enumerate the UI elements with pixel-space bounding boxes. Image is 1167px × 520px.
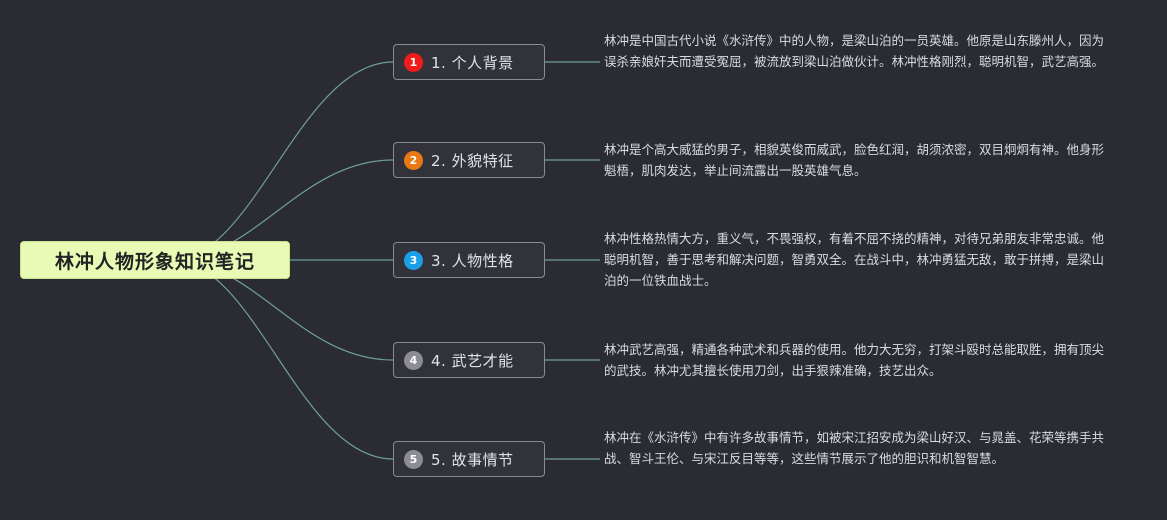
connector-root-branch-5 (172, 260, 393, 459)
branch-label-2: 2. 外貌特征 (431, 150, 514, 171)
branch-node-3[interactable]: 3 3. 人物性格 (393, 242, 545, 278)
branch-node-1[interactable]: 1 1. 个人背景 (393, 44, 545, 80)
branch-detail-4: 林冲武艺高强，精通各种武术和兵器的使用。他力大无穷，打架斗殴时总能取胜，拥有顶尖… (604, 339, 1104, 381)
branch-badge-number-4: 4 (410, 354, 418, 367)
root-node-label: 林冲人物形象知识笔记 (55, 247, 255, 274)
branch-detail-5: 林冲在《水浒传》中有许多故事情节，如被宋江招安成为梁山好汉、与晁盖、花荣等携手共… (604, 427, 1104, 469)
branch-badge-number-5: 5 (410, 453, 418, 466)
branch-label-3: 3. 人物性格 (431, 250, 514, 271)
root-node[interactable]: 林冲人物形象知识笔记 (20, 241, 290, 279)
branch-label-1: 1. 个人背景 (431, 52, 514, 73)
branch-node-5[interactable]: 5 5. 故事情节 (393, 441, 545, 477)
branch-badge-number-3: 3 (410, 254, 418, 267)
connector-root-branch-1 (172, 62, 393, 260)
branch-label-5: 5. 故事情节 (431, 449, 514, 470)
branch-node-4[interactable]: 4 4. 武艺才能 (393, 342, 545, 378)
branch-detail-2: 林冲是个高大威猛的男子，相貌英俊而威武，脸色红润，胡须浓密，双目炯炯有神。他身形… (604, 139, 1104, 181)
branch-badge-3: 3 (404, 251, 423, 270)
branch-badge-4: 4 (404, 351, 423, 370)
branch-badge-number-1: 1 (410, 56, 418, 69)
branch-node-2[interactable]: 2 2. 外貌特征 (393, 142, 545, 178)
mindmap-canvas: 林冲人物形象知识笔记 1 1. 个人背景 林冲是中国古代小说《水浒传》中的人物，… (0, 0, 1167, 520)
branch-label-4: 4. 武艺才能 (431, 350, 514, 371)
branch-badge-2: 2 (404, 151, 423, 170)
branch-badge-number-2: 2 (410, 154, 418, 167)
branch-badge-5: 5 (404, 450, 423, 469)
branch-badge-1: 1 (404, 53, 423, 72)
branch-detail-3: 林冲性格热情大方，重义气，不畏强权，有着不屈不挠的精神，对待兄弟朋友非常忠诚。他… (604, 228, 1104, 291)
branch-detail-1: 林冲是中国古代小说《水浒传》中的人物，是梁山泊的一员英雄。他原是山东滕州人，因为… (604, 30, 1104, 72)
